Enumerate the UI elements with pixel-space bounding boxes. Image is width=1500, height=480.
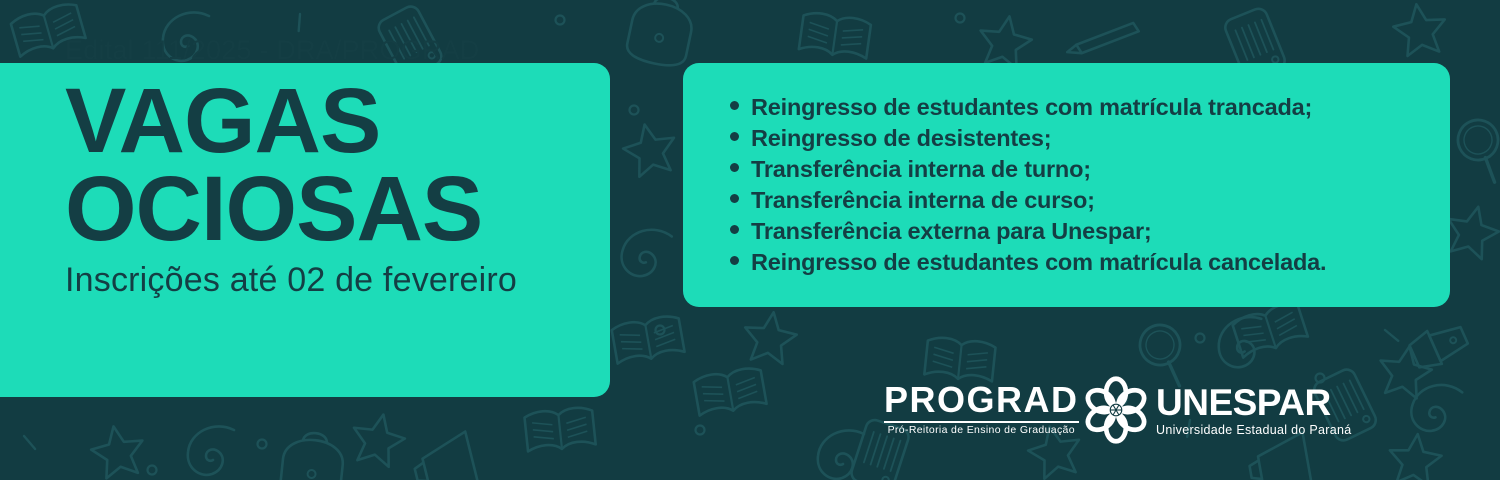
vagas-ociosas-banner: Edital 111/2025 - DRA/PROGRAD VAGAS OCIO… — [0, 0, 1500, 480]
list-item: Reingresso de desistentes; — [730, 123, 1450, 154]
bullet-dot-icon — [730, 163, 739, 172]
list-item-label: Reingresso de desistentes; — [751, 123, 1051, 154]
unespar-logo: UNESPAR Universidade Estadual do Paraná — [1082, 376, 1352, 444]
list-item: Transferência interna de curso; — [730, 185, 1450, 216]
edital-reference-label: Edital 111/2025 - DRA/PROGRAD — [65, 37, 610, 64]
list-item-label: Transferência interna de curso; — [751, 185, 1095, 216]
bullet-dot-icon — [730, 225, 739, 234]
prograd-divider — [884, 421, 1079, 423]
bullet-dot-icon — [730, 256, 739, 265]
headline-line-1: VAGAS — [65, 78, 610, 165]
logo-strip: PROGRAD Pró-Reitoria de Ensino de Gradua… — [860, 372, 1330, 448]
list-item-label: Transferência externa para Unespar; — [751, 216, 1152, 247]
prograd-logo: PROGRAD Pró-Reitoria de Ensino de Gradua… — [884, 382, 1079, 435]
headline-line-2: OCIOSAS — [65, 166, 610, 253]
list-item-label: Transferência interna de turno; — [751, 154, 1091, 185]
deadline-subtitle: Inscrições até 02 de fevereiro — [65, 263, 610, 297]
prograd-wordmark: PROGRAD — [884, 382, 1079, 418]
list-item-label: Reingresso de estudantes com matrícula c… — [751, 247, 1326, 278]
eligibility-list: Reingresso de estudantes com matrícula t… — [683, 63, 1450, 307]
unespar-wordmark: UNESPAR — [1156, 384, 1352, 421]
prograd-tagline: Pró-Reitoria de Ensino de Graduação — [888, 425, 1075, 436]
bullet-dot-icon — [730, 132, 739, 141]
list-item: Reingresso de estudantes com matrícula c… — [730, 247, 1450, 278]
list-item: Transferência externa para Unespar; — [730, 216, 1450, 247]
bullet-dot-icon — [730, 194, 739, 203]
page-title: VAGAS OCIOSAS — [65, 78, 610, 253]
list-item: Reingresso de estudantes com matrícula t… — [730, 92, 1450, 123]
list-item: Transferência interna de turno; — [730, 154, 1450, 185]
unespar-tagline: Universidade Estadual do Paraná — [1156, 424, 1352, 437]
bullet-dot-icon — [730, 101, 739, 110]
edital-headline-content: Edital 111/2025 - DRA/PROGRAD VAGAS OCIO… — [65, 0, 610, 334]
unespar-text-block: UNESPAR Universidade Estadual do Paraná — [1156, 384, 1352, 437]
list-item-label: Reingresso de estudantes com matrícula t… — [751, 92, 1312, 123]
unespar-rosette-emblem — [1082, 376, 1150, 444]
